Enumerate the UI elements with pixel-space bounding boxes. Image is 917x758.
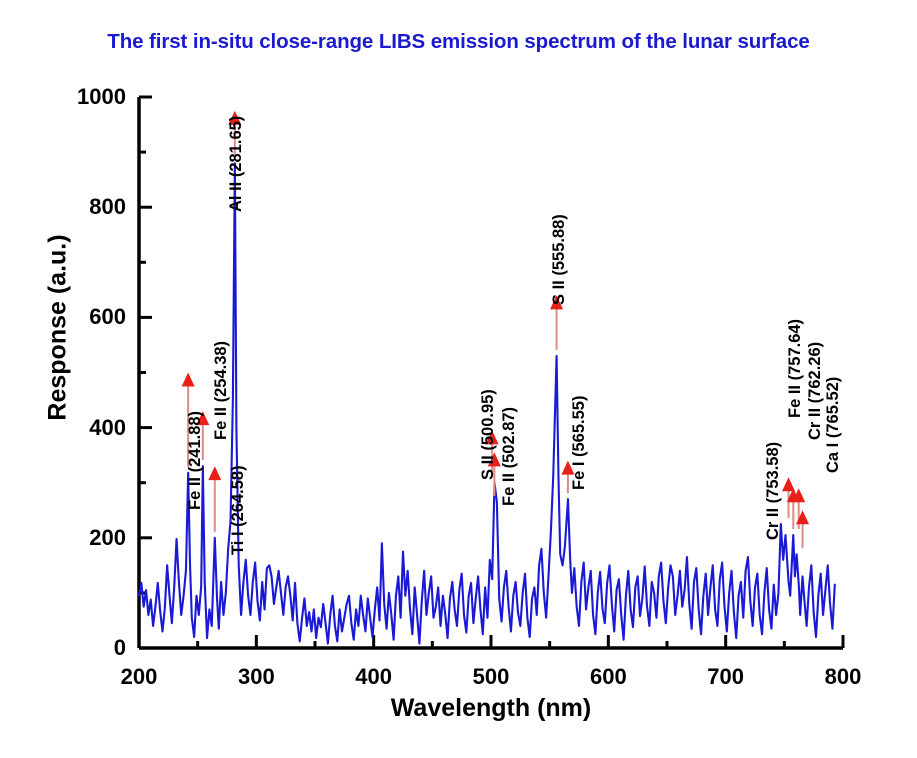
- y-tick-label: 600: [40, 304, 126, 330]
- peak-label: Ti I (264.58): [229, 465, 248, 555]
- x-tick-label: 400: [355, 664, 392, 690]
- peak-label: Al II (281.65): [227, 116, 246, 212]
- peak-label: Fe II (254.38): [212, 341, 231, 440]
- y-tick-label: 200: [40, 525, 126, 551]
- x-tick-label: 200: [121, 664, 158, 690]
- peak-label: Ca I (765.52): [824, 377, 843, 473]
- peak-label: Fe II (241.88): [186, 411, 205, 510]
- x-tick-label: 600: [590, 664, 627, 690]
- peak-label: Fe II (502.87): [500, 407, 519, 506]
- peak-label: Fe II (757.64): [786, 319, 805, 418]
- y-tick-label: 400: [40, 415, 126, 441]
- peak-label: Cr II (753.58): [764, 442, 783, 540]
- x-tick-label: 800: [825, 664, 862, 690]
- libs-spectrum-figure: The first in-situ close-range LIBS emiss…: [0, 0, 917, 758]
- peak-label: S II (555.88): [550, 214, 569, 305]
- x-tick-label: 300: [238, 664, 275, 690]
- y-tick-label: 1000: [40, 84, 126, 110]
- peak-label: Cr II (762.26): [806, 342, 825, 440]
- x-tick-label: 500: [473, 664, 510, 690]
- y-tick-label: 0: [40, 635, 126, 661]
- y-tick-label: 800: [40, 194, 126, 220]
- peak-label: Fe I (565.55): [570, 396, 589, 490]
- peak-label: S II (500.95): [479, 389, 498, 480]
- peak-annotations: [182, 111, 809, 549]
- x-tick-label: 700: [707, 664, 744, 690]
- plot-area: [0, 0, 917, 758]
